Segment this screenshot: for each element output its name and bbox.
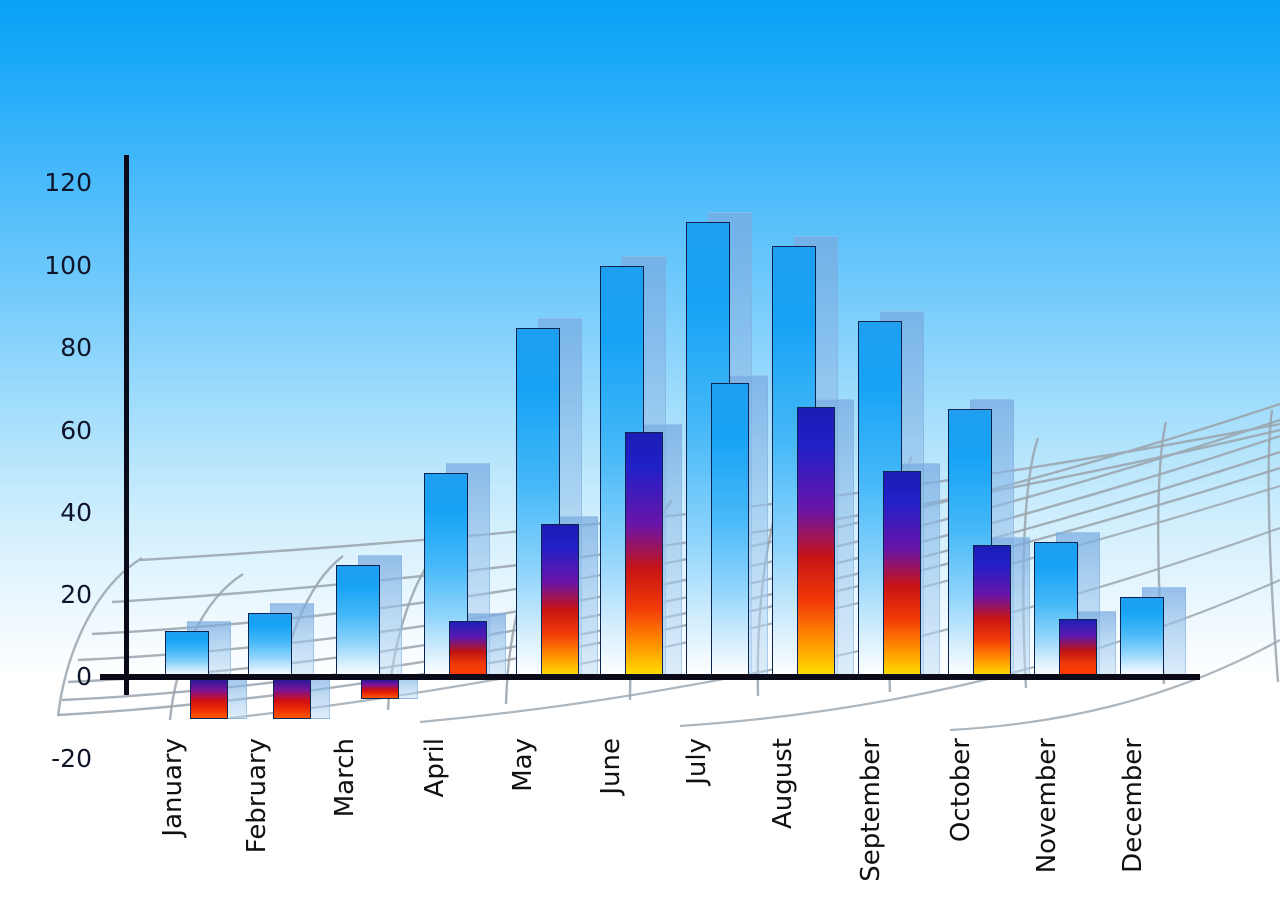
bar-face: [883, 471, 921, 677]
x-label-march: March: [330, 738, 360, 817]
x-label-november: November: [1032, 738, 1062, 873]
y-tick-0: 0: [0, 662, 92, 691]
x-label-december: December: [1118, 738, 1148, 873]
bar-face: [361, 679, 399, 699]
bar-face: [625, 432, 663, 677]
bar-face: [1059, 619, 1097, 677]
bar-june-series2[interactable]: [625, 432, 663, 677]
y-tick-20: 20: [0, 580, 92, 609]
bar-january-series1[interactable]: [165, 631, 209, 677]
x-label-january: January: [158, 738, 188, 837]
y-tick-80: 80: [0, 333, 92, 362]
x-axis-line: [100, 674, 1200, 680]
y-tick-60: 60: [0, 416, 92, 445]
x-label-june: June: [596, 738, 626, 795]
bar-july-series2[interactable]: [711, 383, 749, 677]
bar-april-series2[interactable]: [449, 621, 487, 677]
bar-february-series1[interactable]: [248, 613, 292, 677]
bar-face: [336, 565, 380, 677]
y-tick-neg20: -20: [0, 744, 92, 773]
chart-root: 120 100 80 60 40 20 0 -20 January Februa…: [0, 0, 1280, 905]
bar-face: [797, 407, 835, 677]
bar-march-series2[interactable]: [361, 679, 399, 699]
bar-october-series2[interactable]: [973, 545, 1011, 677]
bar-face: [248, 613, 292, 677]
x-label-august: August: [768, 738, 798, 829]
x-label-october: October: [946, 738, 976, 842]
y-tick-40: 40: [0, 498, 92, 527]
bar-september-series2[interactable]: [883, 471, 921, 677]
bar-may-series2[interactable]: [541, 524, 579, 677]
bar-face: [541, 524, 579, 677]
x-label-july: July: [682, 738, 712, 785]
y-axis-line: [124, 155, 129, 695]
x-label-may: May: [508, 738, 538, 792]
bar-face: [973, 545, 1011, 677]
bar-january-series2[interactable]: [190, 679, 228, 719]
bar-march-series1[interactable]: [336, 565, 380, 677]
x-label-february: February: [242, 738, 272, 853]
bar-face: [165, 631, 209, 677]
bar-face: [449, 621, 487, 677]
bar-face: [1120, 597, 1164, 677]
x-label-september: September: [856, 738, 886, 882]
x-label-april: April: [420, 738, 450, 797]
y-tick-100: 100: [0, 251, 92, 280]
bar-face: [711, 383, 749, 677]
bar-february-series2[interactable]: [273, 679, 311, 719]
bar-december-series1[interactable]: [1120, 597, 1164, 677]
bar-face: [190, 679, 228, 719]
bars-layer: [0, 0, 1280, 905]
y-tick-120: 120: [0, 168, 92, 197]
bar-face: [273, 679, 311, 719]
bar-november-series2[interactable]: [1059, 619, 1097, 677]
bar-august-series2[interactable]: [797, 407, 835, 677]
